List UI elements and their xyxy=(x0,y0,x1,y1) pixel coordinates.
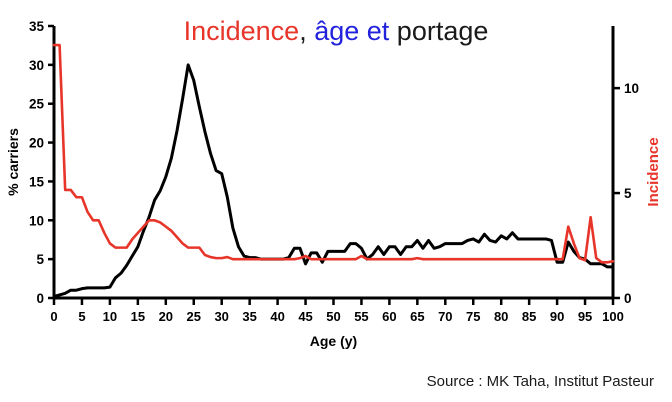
x-tick-label: 70 xyxy=(438,309,452,324)
x-tick-label: 85 xyxy=(522,309,536,324)
x-tick-label: 10 xyxy=(103,309,117,324)
y-tick-label: 0 xyxy=(36,291,44,306)
x-tick-label: 75 xyxy=(466,309,480,324)
y2-tick-label: 10 xyxy=(624,81,639,96)
y-axis-title: % carriers xyxy=(5,128,21,196)
y-tick-label: 30 xyxy=(29,58,44,73)
x-tick-label: 25 xyxy=(187,309,201,324)
chart-container: Incidence, âge et portage 05101520253035… xyxy=(0,0,672,402)
x-tick-label: 40 xyxy=(270,309,284,324)
y-tick-label: 35 xyxy=(29,19,45,34)
x-tick-label: 0 xyxy=(50,309,57,324)
y2-tick-label: 0 xyxy=(624,291,632,306)
y2-tick-label: 5 xyxy=(624,186,632,201)
x-tick-label: 5 xyxy=(78,309,85,324)
y-tick-label: 20 xyxy=(29,136,44,151)
series-line-incidence xyxy=(54,45,613,262)
series-line-carriers xyxy=(54,65,613,297)
x-tick-label: 95 xyxy=(578,309,592,324)
x-tick-label: 50 xyxy=(326,309,340,324)
y-tick-label: 25 xyxy=(29,97,45,112)
y2-axis-title: Incidence xyxy=(645,137,662,206)
x-tick-label: 55 xyxy=(354,309,368,324)
x-tick-label: 90 xyxy=(550,309,564,324)
source-credit: Source : MK Taha, Institut Pasteur xyxy=(427,373,654,390)
y-tick-label: 15 xyxy=(29,174,45,189)
x-tick-label: 30 xyxy=(214,309,228,324)
x-tick-label: 15 xyxy=(131,309,145,324)
x-tick-label: 60 xyxy=(382,309,396,324)
x-tick-label: 35 xyxy=(242,309,256,324)
x-tick-label: 65 xyxy=(410,309,424,324)
x-tick-label: 45 xyxy=(298,309,312,324)
x-tick-label: 20 xyxy=(159,309,173,324)
x-tick-label: 100 xyxy=(602,309,624,324)
chart-plot-area: 0510152025303505100510152025303540455055… xyxy=(0,0,672,402)
x-axis-title: Age (y) xyxy=(310,333,357,349)
x-tick-label: 80 xyxy=(494,309,508,324)
y-tick-label: 10 xyxy=(29,213,44,228)
y-tick-label: 5 xyxy=(36,252,44,267)
